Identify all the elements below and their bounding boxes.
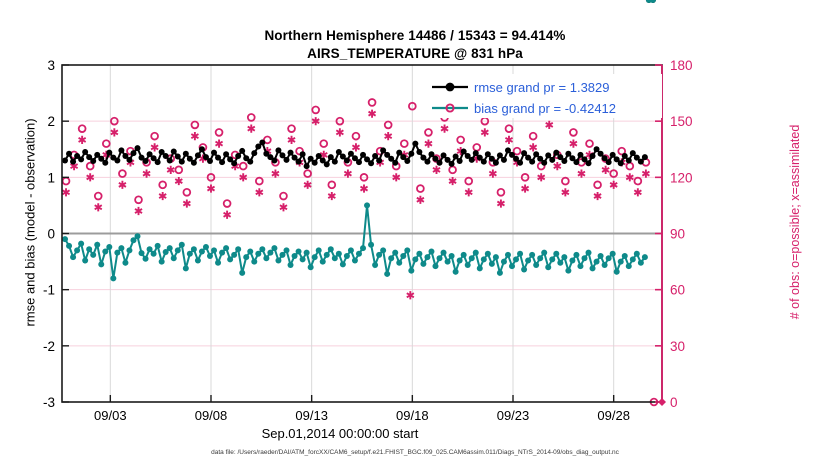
legend-marker-filled-circle xyxy=(446,83,455,92)
series-point xyxy=(622,153,628,159)
series-point xyxy=(223,245,229,251)
series-point xyxy=(485,251,491,257)
obs-assimilated-marker xyxy=(441,125,448,133)
series-point xyxy=(223,151,229,157)
series-point xyxy=(215,155,221,161)
series-point xyxy=(368,242,374,248)
series-point xyxy=(191,160,197,166)
series-point xyxy=(453,269,459,275)
series-point xyxy=(336,149,342,155)
plot-figure: Northern Hemisphere 14486 / 15343 = 94.4… xyxy=(0,0,830,470)
obs-possible-marker xyxy=(586,140,593,147)
obs-possible-marker xyxy=(312,107,319,114)
obs-assimilated-marker xyxy=(167,166,174,174)
series-point xyxy=(376,157,382,163)
series-point xyxy=(288,150,294,156)
series-point xyxy=(412,141,418,147)
series-point xyxy=(199,146,205,152)
obs-possible-marker xyxy=(353,133,360,140)
series-point xyxy=(122,260,128,266)
obs-assimilated-marker xyxy=(304,181,311,189)
series-point xyxy=(155,159,161,165)
series-point xyxy=(598,151,604,157)
series-point xyxy=(183,151,189,157)
series-point xyxy=(231,160,237,166)
series-point xyxy=(606,159,612,165)
series-point xyxy=(316,153,322,159)
series-point xyxy=(320,259,326,265)
series-point xyxy=(638,260,644,266)
series-point xyxy=(167,245,173,251)
series-point xyxy=(62,157,68,163)
series-point xyxy=(392,250,398,256)
series-point xyxy=(509,263,515,269)
series-point xyxy=(481,159,487,165)
series-point xyxy=(545,152,551,158)
series-point xyxy=(126,157,132,163)
obs-assimilated-marker xyxy=(634,188,641,196)
series-point xyxy=(352,257,358,263)
obs-assimilated-marker xyxy=(425,140,432,148)
y-tick-label-right: 180 xyxy=(670,58,693,73)
series-point xyxy=(513,256,519,262)
series-point xyxy=(561,158,567,164)
series-point xyxy=(344,253,350,259)
series-point xyxy=(70,159,76,165)
series-point xyxy=(304,250,310,256)
series-point xyxy=(416,251,422,257)
obs-assimilated-marker xyxy=(159,192,166,200)
series-point xyxy=(477,265,483,271)
obs-possible-marker xyxy=(425,129,432,136)
series-point xyxy=(408,268,414,274)
obs-assimilated-marker xyxy=(546,121,553,129)
series-point xyxy=(70,254,76,260)
x-tick-label: 09/03 xyxy=(94,408,127,423)
series-point xyxy=(473,150,479,156)
series-point xyxy=(437,160,443,166)
obs-possible-marker xyxy=(594,181,601,188)
series-point xyxy=(565,151,571,157)
series-point xyxy=(78,156,84,162)
obs-possible-marker xyxy=(288,125,295,132)
obs-assimilated-marker xyxy=(433,166,440,174)
series-point xyxy=(541,250,547,256)
series-point xyxy=(573,252,579,258)
series-point xyxy=(573,159,579,165)
series-point xyxy=(118,147,124,153)
series-point xyxy=(86,246,92,252)
series-point xyxy=(336,251,342,257)
series-point xyxy=(577,263,583,269)
series-point xyxy=(598,253,604,259)
obs-assimilated-marker xyxy=(417,196,424,204)
obs-assimilated-marker xyxy=(256,188,263,196)
obs-assimilated-marker xyxy=(385,132,392,140)
series-point xyxy=(98,261,104,267)
obs-possible-marker xyxy=(498,189,505,196)
obs-possible-marker xyxy=(280,193,287,200)
series-point xyxy=(412,256,418,262)
series-point xyxy=(243,254,249,260)
series-point xyxy=(356,159,362,165)
series-point xyxy=(235,153,241,159)
series-point xyxy=(114,157,120,163)
series-point xyxy=(424,159,430,165)
series-point xyxy=(602,262,608,268)
series-point xyxy=(207,253,213,259)
series-point xyxy=(283,157,289,163)
series-point xyxy=(66,243,72,249)
series-point xyxy=(171,148,177,154)
series-point xyxy=(283,247,289,253)
series-point xyxy=(195,257,201,263)
series-point xyxy=(380,147,386,153)
series-point xyxy=(275,147,281,153)
series-point xyxy=(360,152,366,158)
series-point xyxy=(102,160,108,166)
series-point xyxy=(590,265,596,271)
series-point xyxy=(211,247,217,253)
obs-possible-marker xyxy=(151,133,158,140)
series-point xyxy=(497,152,503,158)
series-point xyxy=(135,145,141,151)
obs-assimilated-marker xyxy=(610,181,617,189)
series-point xyxy=(461,148,467,154)
series-point xyxy=(90,252,96,258)
series-point xyxy=(135,233,141,239)
series-point xyxy=(78,241,84,247)
y-tick-label-left: -2 xyxy=(43,339,55,354)
series-point xyxy=(227,256,233,262)
series-point xyxy=(404,247,410,253)
series-point xyxy=(380,247,386,253)
series-point xyxy=(300,151,306,157)
series-point xyxy=(581,255,587,261)
obs-possible-marker xyxy=(385,122,392,129)
obs-possible-marker xyxy=(562,178,569,185)
series-point xyxy=(247,248,253,254)
series-point xyxy=(392,160,398,166)
series-point xyxy=(590,153,596,159)
series-point xyxy=(328,154,334,160)
series-point xyxy=(618,160,624,166)
series-point xyxy=(533,262,539,268)
series-point xyxy=(586,160,592,166)
series-point xyxy=(324,161,330,167)
series-point xyxy=(376,252,382,258)
series-point xyxy=(348,151,354,157)
obs-assimilated-marker xyxy=(497,199,504,207)
obs-possible-marker xyxy=(320,140,327,147)
obs-assimilated-marker xyxy=(562,188,569,196)
obs-assimilated-marker xyxy=(594,192,601,200)
obs-assimilated-marker xyxy=(344,169,351,177)
obs-possible-marker xyxy=(135,196,142,203)
series-point xyxy=(143,158,149,164)
series-point xyxy=(449,253,455,259)
x-tick-label: 09/18 xyxy=(396,408,429,423)
series-point xyxy=(279,252,285,258)
series-point xyxy=(130,150,136,156)
series-point xyxy=(594,146,600,152)
series-point xyxy=(183,265,189,271)
series-point xyxy=(364,202,370,208)
series-point xyxy=(348,247,354,253)
series-point xyxy=(259,246,265,252)
y-tick-label-left: 0 xyxy=(47,227,55,242)
obs-assimilated-marker xyxy=(95,203,102,211)
series-point xyxy=(557,260,563,266)
series-point xyxy=(179,159,185,165)
y-tick-label-right: 90 xyxy=(670,227,685,242)
series-point xyxy=(626,157,632,163)
series-point xyxy=(521,266,527,272)
y-tick-label-left: 2 xyxy=(47,114,55,129)
series-point xyxy=(606,255,612,261)
series-point xyxy=(388,255,394,261)
series-point xyxy=(175,154,181,160)
series-point xyxy=(453,154,459,160)
obs-assimilated-marker xyxy=(369,110,376,118)
series-point xyxy=(143,256,149,262)
series-point xyxy=(139,250,145,256)
obs-possible-marker xyxy=(216,129,223,136)
series-point xyxy=(360,245,366,251)
series-point xyxy=(239,270,245,276)
series-point xyxy=(521,150,527,156)
series-point xyxy=(626,263,632,269)
obs-assimilated-marker xyxy=(530,143,537,151)
obs-possible-marker xyxy=(457,136,464,143)
obs-possible-marker xyxy=(417,185,424,192)
series-point xyxy=(420,261,426,267)
y-tick-label-left: 1 xyxy=(47,170,55,185)
series-point xyxy=(610,251,616,257)
obs-possible-marker xyxy=(159,181,166,188)
series-point xyxy=(384,271,390,277)
obs-possible-marker xyxy=(224,200,231,207)
series-point xyxy=(308,264,314,270)
series-point xyxy=(90,158,96,164)
series-point xyxy=(288,262,294,268)
x-tick-label: 09/28 xyxy=(597,408,630,423)
obs-possible-marker xyxy=(191,122,198,129)
series-bias xyxy=(62,0,656,281)
series-point xyxy=(424,254,430,260)
x-tick-label: 09/23 xyxy=(497,408,530,423)
series-point xyxy=(94,242,100,248)
series-point xyxy=(267,250,273,256)
series-point xyxy=(634,251,640,257)
series-point xyxy=(219,250,225,256)
x-tick-label: 09/13 xyxy=(295,408,328,423)
obs-possible-marker xyxy=(119,170,126,177)
series-point xyxy=(147,246,153,252)
obs-assimilated-marker xyxy=(191,132,198,140)
legend-label: bias grand pr = -0.42412 xyxy=(474,101,616,116)
series-point xyxy=(82,257,88,263)
series-point xyxy=(368,160,374,166)
obs-assimilated-marker xyxy=(602,166,609,174)
series-point xyxy=(497,270,503,276)
obs-possible-marker xyxy=(369,99,376,106)
obs-possible-marker xyxy=(183,189,190,196)
series-point xyxy=(271,245,277,251)
obs-assimilated-marker xyxy=(465,188,472,196)
series-point xyxy=(445,259,451,265)
obs-assimilated-marker xyxy=(505,136,512,144)
series-point xyxy=(215,260,221,266)
series-point xyxy=(577,152,583,158)
obs-assimilated-marker xyxy=(352,143,359,151)
obs-possible-marker xyxy=(175,166,182,173)
obs-assimilated-marker xyxy=(642,169,649,177)
series-point xyxy=(340,261,346,267)
series-point xyxy=(505,147,511,153)
series-point xyxy=(235,246,241,252)
obs-possible-marker xyxy=(248,114,255,121)
series-point xyxy=(255,251,261,257)
series-point xyxy=(356,251,362,257)
series-point xyxy=(316,247,322,253)
obs-assimilated-marker xyxy=(62,188,69,196)
y-tick-label-right: 0 xyxy=(670,395,678,410)
obs-possible-marker xyxy=(570,129,577,136)
series-point xyxy=(247,159,253,165)
y-tick-label-left: 3 xyxy=(47,58,55,73)
obs-possible-marker xyxy=(63,178,70,185)
series-point xyxy=(62,236,68,242)
series-point xyxy=(428,151,434,157)
series-point xyxy=(275,257,281,263)
series-point xyxy=(396,260,402,266)
series-point xyxy=(400,253,406,259)
series-point xyxy=(553,150,559,156)
series-point xyxy=(549,256,555,262)
series-point xyxy=(171,255,177,261)
series-point xyxy=(300,256,306,262)
obs-zero-end-marker xyxy=(658,398,666,406)
obs-assimilated-marker xyxy=(248,125,255,133)
series-point xyxy=(271,157,277,163)
series-point xyxy=(292,253,298,259)
series-point xyxy=(328,246,334,252)
series-point xyxy=(529,159,535,165)
series-point xyxy=(102,248,108,254)
series-point xyxy=(642,154,648,160)
series-point xyxy=(239,148,245,154)
obs-assimilated-marker xyxy=(578,169,585,177)
obs-possible-marker xyxy=(473,144,480,151)
series-point xyxy=(517,160,523,166)
series-point xyxy=(416,149,422,155)
series-point xyxy=(211,150,217,156)
obs-assimilated-marker xyxy=(215,140,222,148)
series-point xyxy=(614,269,620,275)
series-point xyxy=(324,252,330,258)
series-point xyxy=(74,247,80,253)
series-point xyxy=(565,268,571,274)
series-point xyxy=(441,250,447,256)
obs-possible-marker xyxy=(95,193,102,200)
obs-assimilated-marker xyxy=(449,177,456,185)
series-point xyxy=(549,157,555,163)
obs-assimilated-marker xyxy=(489,169,496,177)
series-point xyxy=(541,160,547,166)
series-point xyxy=(219,159,225,165)
obs-assimilated-marker xyxy=(79,136,86,144)
obs-assimilated-marker xyxy=(183,199,190,207)
series-point xyxy=(501,259,507,265)
series-point xyxy=(279,152,285,158)
series-point xyxy=(469,157,475,163)
series-point xyxy=(501,157,507,163)
obs-possible-marker xyxy=(634,178,641,185)
series-point xyxy=(408,151,414,157)
obs-possible-marker xyxy=(465,178,472,185)
y-tick-label-left: -3 xyxy=(43,395,55,410)
series-point xyxy=(428,248,434,254)
series-point xyxy=(114,250,120,256)
obs-assimilated-marker xyxy=(272,169,279,177)
obs-possible-marker xyxy=(304,170,311,177)
series-point xyxy=(485,151,491,157)
series-point xyxy=(525,257,531,263)
obs-possible-marker xyxy=(103,140,110,147)
y-tick-label-right: 150 xyxy=(670,114,693,129)
series-point xyxy=(106,150,112,156)
obs-possible-marker xyxy=(79,125,86,132)
series-point xyxy=(259,140,265,146)
obs-assimilated-marker xyxy=(481,128,488,136)
chart-canvas: -3-2-10123030609012015018009/0309/0809/1… xyxy=(0,0,830,470)
series-point xyxy=(251,150,257,156)
series-point xyxy=(296,159,302,165)
series-point xyxy=(618,259,624,265)
series-point xyxy=(231,252,237,258)
series-point xyxy=(493,160,499,166)
series-point xyxy=(449,161,455,167)
series-point xyxy=(207,158,213,164)
series-point xyxy=(529,252,535,258)
obs-possible-marker xyxy=(240,163,247,170)
obs-assimilated-marker xyxy=(280,203,287,211)
obs-assimilated-marker xyxy=(119,181,126,189)
series-point xyxy=(622,253,628,259)
series-point xyxy=(489,261,495,267)
y-tick-label-right: 120 xyxy=(670,170,693,185)
series-point xyxy=(155,243,161,249)
series-point xyxy=(537,255,543,261)
series-point xyxy=(441,152,447,158)
obs-assimilated-marker xyxy=(554,162,561,170)
series-point xyxy=(82,149,88,155)
series-point xyxy=(461,252,467,258)
series-point xyxy=(465,262,471,268)
series-point xyxy=(159,259,165,265)
series-point xyxy=(650,0,656,3)
series-point xyxy=(396,150,402,156)
series-point xyxy=(151,251,157,257)
series-point xyxy=(167,157,173,163)
series-point xyxy=(179,242,185,248)
obs-possible-marker xyxy=(506,125,513,132)
series-point xyxy=(312,254,318,260)
series-point xyxy=(469,255,475,261)
series-point xyxy=(630,256,636,262)
y-tick-label-right: 30 xyxy=(670,339,685,354)
